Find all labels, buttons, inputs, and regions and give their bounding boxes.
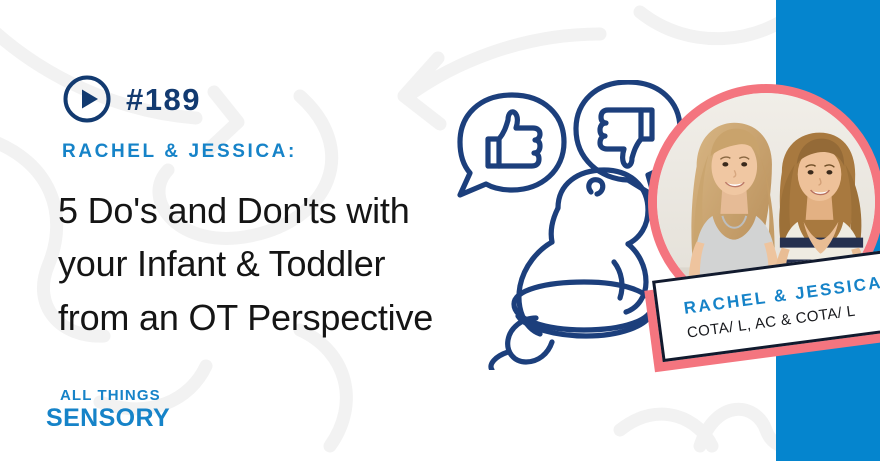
episode-row: #189	[62, 74, 201, 124]
thumbs-up-speech-bubble-icon	[460, 95, 564, 195]
episode-title: 5 Do's and Don'ts with your Infant & Tod…	[58, 184, 538, 344]
episode-hosts-eyebrow: RACHEL & JESSICA:	[62, 141, 297, 163]
episode-title-line-1: 5 Do's and Don'ts with	[58, 184, 538, 237]
brand-logo-top-line: ALL THINGS	[60, 388, 170, 403]
episode-title-line-3: from an OT Perspective	[58, 291, 538, 344]
podcast-episode-banner: #189 RACHEL & JESSICA: 5 Do's and Don'ts…	[0, 0, 880, 461]
episode-title-line-2: your Infant & Toddler	[58, 237, 538, 290]
brand-logo: ALL THINGS SENSORY	[46, 388, 170, 431]
play-circle-icon[interactable]	[62, 74, 112, 124]
episode-number: #189	[126, 84, 201, 115]
brand-logo-main-line: SENSORY	[46, 406, 170, 431]
